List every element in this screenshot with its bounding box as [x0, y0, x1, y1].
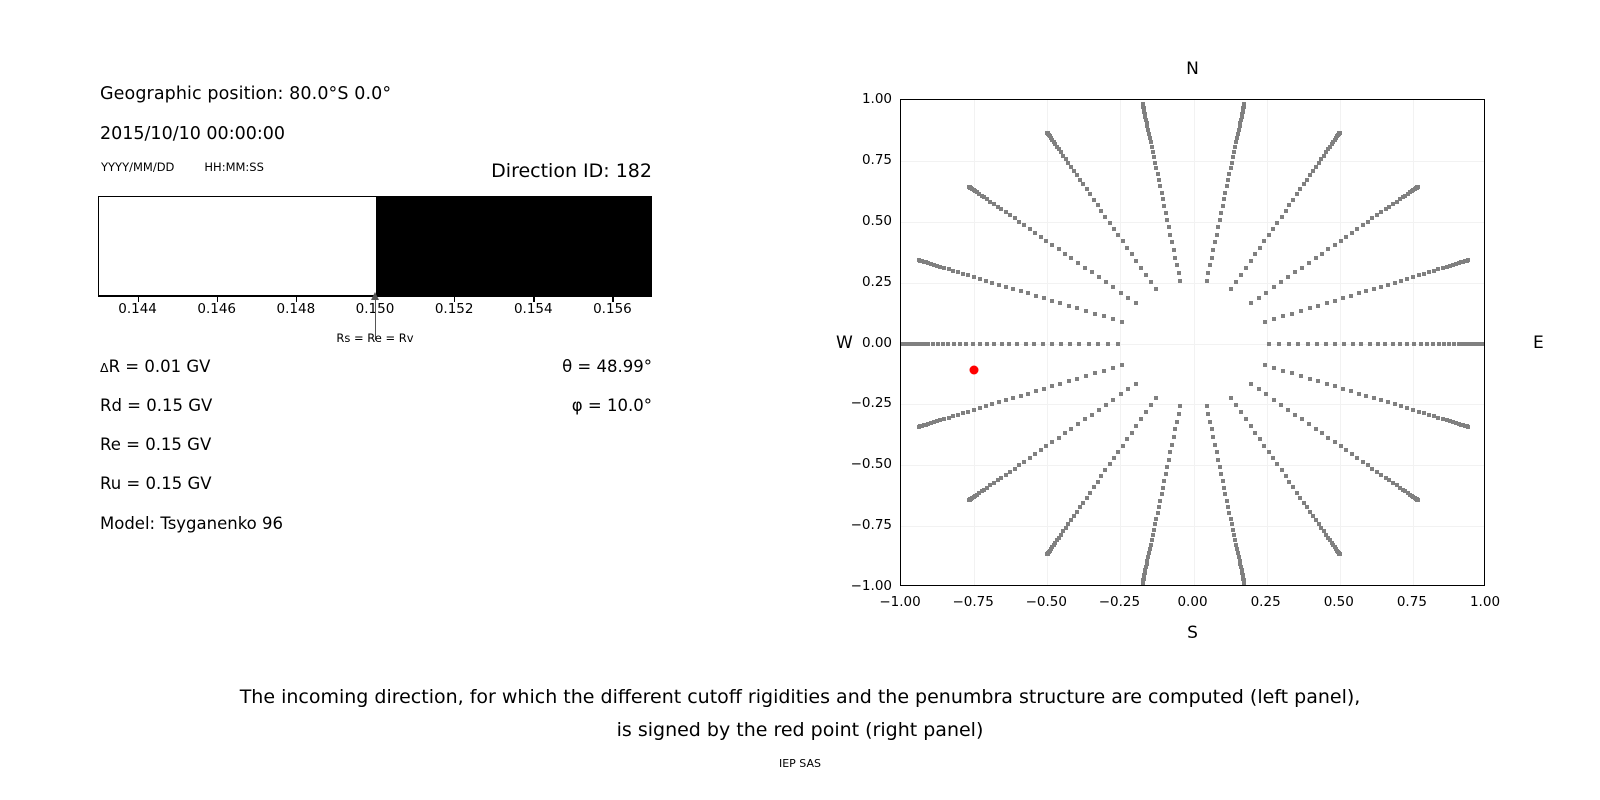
direction-point — [1281, 314, 1285, 318]
direction-point — [1361, 223, 1365, 227]
direction-point — [1417, 273, 1421, 277]
parameter-text: Ru = 0.15 GV — [100, 474, 212, 493]
direction-point — [1205, 404, 1209, 408]
direction-point — [918, 342, 922, 346]
direction-point — [1120, 320, 1124, 324]
direction-point — [1271, 456, 1275, 460]
direction-point — [1233, 145, 1237, 149]
direction-point — [1379, 398, 1383, 402]
direction-point — [1442, 342, 1446, 346]
direction-point — [1026, 291, 1030, 295]
direction-point — [1134, 259, 1138, 263]
direction-point — [1092, 485, 1096, 489]
direction-point — [1237, 128, 1241, 132]
gridline-vertical — [1047, 100, 1048, 585]
direction-point — [1279, 403, 1283, 407]
direction-point — [1333, 243, 1337, 247]
direction-point — [1116, 342, 1120, 346]
direction-point — [1242, 581, 1246, 585]
direction-point — [1272, 285, 1276, 289]
direction-point — [942, 417, 946, 421]
direction-point — [1299, 374, 1303, 378]
direction-point — [1013, 467, 1017, 471]
direction-point — [1235, 136, 1239, 140]
direction-point — [1302, 182, 1306, 186]
direction-point — [1213, 443, 1217, 447]
direction-point — [1267, 450, 1271, 454]
direction-point — [1320, 252, 1324, 256]
x-axis-tick — [1413, 585, 1414, 586]
direction-point — [1144, 410, 1148, 414]
direction-point — [1083, 417, 1087, 421]
direction-point — [1008, 470, 1012, 474]
direction-point — [972, 275, 976, 279]
penumbra-tick-label: 0.152 — [435, 301, 474, 317]
direction-point — [1383, 342, 1387, 346]
direction-point — [1287, 480, 1291, 484]
direction-point — [1314, 427, 1318, 431]
direction-point — [1364, 394, 1368, 398]
direction-point — [1160, 191, 1164, 195]
direction-point — [1026, 392, 1030, 396]
penumbra-tick-label: 0.154 — [514, 301, 553, 317]
direction-point — [947, 267, 951, 271]
direction-point — [1044, 239, 1048, 243]
direction-point — [1253, 252, 1257, 256]
direction-point — [1277, 342, 1281, 346]
direction-point — [938, 418, 942, 422]
direction-point — [1167, 225, 1171, 229]
direction-point — [956, 270, 960, 274]
direction-point — [1272, 317, 1276, 321]
direction-point — [1239, 410, 1243, 414]
direction-point — [1077, 342, 1081, 346]
direction-scatter-plot — [900, 99, 1485, 586]
direction-point — [1178, 279, 1182, 283]
direction-point — [978, 277, 982, 281]
direction-point — [1218, 218, 1222, 222]
direction-point — [1223, 492, 1227, 496]
caption-line-2: is signed by the red point (right panel) — [0, 719, 1600, 741]
direction-point — [1326, 247, 1330, 251]
direction-point — [1236, 132, 1240, 136]
direction-point — [1045, 131, 1049, 135]
direction-point — [990, 281, 994, 285]
direction-point — [1349, 294, 1353, 298]
direction-point — [1208, 263, 1212, 267]
penumbra-forbidden-region — [376, 197, 652, 295]
direction-point — [1229, 517, 1233, 521]
direction-point — [1149, 403, 1153, 407]
penumbra-tick-label: 0.156 — [593, 301, 632, 317]
gridline-horizontal — [901, 222, 1484, 223]
direction-point — [1116, 450, 1120, 454]
direction-point — [1219, 472, 1223, 476]
direction-point — [1339, 239, 1343, 243]
direction-point — [1357, 392, 1361, 396]
direction-point — [931, 342, 935, 346]
direction-point — [1069, 256, 1073, 260]
y-axis-tick-label: 1.00 — [840, 91, 892, 107]
x-axis-tick — [1340, 585, 1341, 586]
datetime-format-hint: YYYY/MM/DDHH:MM:SS — [101, 160, 264, 174]
direction-point — [1149, 543, 1153, 547]
direction-point — [1058, 382, 1062, 386]
direction-point — [1333, 299, 1337, 303]
direction-point — [1152, 528, 1156, 532]
direction-point — [992, 481, 996, 485]
direction-point — [1158, 499, 1162, 503]
direction-point — [1399, 279, 1403, 283]
x-axis-tick-label: −1.00 — [879, 594, 920, 610]
direction-point — [1432, 414, 1436, 418]
parameter-row: Re = 0.15 GV — [100, 435, 211, 454]
direction-point — [999, 207, 1003, 211]
gridline-vertical — [1194, 100, 1195, 585]
y-axis-tick — [900, 526, 901, 527]
direction-point — [967, 498, 971, 502]
direction-point — [1092, 198, 1096, 202]
direction-point — [1349, 389, 1353, 393]
direction-point — [1210, 427, 1214, 431]
direction-point — [1341, 387, 1345, 391]
direction-point — [1004, 473, 1008, 477]
direction-point — [1291, 485, 1295, 489]
direction-point — [1366, 463, 1370, 467]
direction-point — [1284, 209, 1288, 213]
direction-point — [985, 342, 989, 346]
direction-point — [1281, 369, 1285, 373]
direction-point — [1177, 412, 1181, 416]
direction-point — [1126, 296, 1130, 300]
direction-point — [1226, 178, 1230, 182]
direction-point — [1218, 465, 1222, 469]
direction-point — [990, 402, 994, 406]
direction-point — [946, 342, 950, 346]
direction-point — [1372, 396, 1376, 400]
direction-point — [1177, 271, 1181, 275]
direction-point — [1391, 342, 1395, 346]
direction-point — [1147, 132, 1151, 136]
gridline-vertical — [1120, 100, 1121, 585]
direction-point — [1149, 280, 1153, 284]
direction-point — [1093, 371, 1097, 375]
direction-point — [1422, 272, 1426, 276]
x-axis-tick — [1194, 585, 1195, 586]
direction-point — [1007, 342, 1011, 346]
direction-point — [971, 342, 975, 346]
direction-point — [1333, 384, 1337, 388]
direction-point — [1028, 227, 1032, 231]
direction-point — [1103, 215, 1107, 219]
direction-point — [1119, 291, 1123, 295]
direction-point — [1302, 501, 1306, 505]
direction-point — [1405, 277, 1409, 281]
direction-point — [942, 266, 946, 270]
direction-point — [941, 342, 945, 346]
direction-point — [1173, 427, 1177, 431]
gridline-horizontal — [901, 283, 1484, 284]
direction-point — [1050, 243, 1054, 247]
direction-point — [1104, 403, 1108, 407]
direction-point — [1307, 422, 1311, 426]
direction-point — [1075, 306, 1079, 310]
direction-point — [999, 476, 1003, 480]
parameter-text: Model: Tsyganenko 96 — [100, 514, 283, 533]
direction-point — [996, 478, 1000, 482]
direction-point — [972, 408, 976, 412]
angle-row: θ = 48.99° — [412, 357, 652, 376]
direction-point — [1157, 178, 1161, 182]
direction-point — [1172, 435, 1176, 439]
direction-point — [1015, 342, 1019, 346]
direction-point — [1262, 239, 1266, 243]
direction-point — [1338, 552, 1342, 556]
direction-point — [1039, 448, 1043, 452]
direction-point — [1175, 263, 1179, 267]
direction-point — [1267, 342, 1271, 346]
direction-point — [1139, 266, 1143, 270]
direction-point — [1314, 165, 1318, 169]
direction-id-label: Direction ID: 182 — [252, 160, 652, 182]
rs-re-rv-annotation-label: Rs = Re = Rv — [336, 331, 413, 345]
direction-point — [1238, 124, 1242, 128]
direction-point — [1164, 211, 1168, 215]
direction-point — [1004, 285, 1008, 289]
direction-point — [1172, 248, 1176, 252]
direction-point — [1104, 280, 1108, 284]
direction-point — [1232, 150, 1236, 154]
direction-point — [1324, 342, 1328, 346]
direction-point — [1102, 369, 1106, 373]
direction-point — [917, 258, 921, 262]
direction-point — [1019, 289, 1023, 293]
direction-point — [1211, 248, 1215, 252]
parameter-row: Ru = 0.15 GV — [100, 474, 212, 493]
direction-point — [1057, 247, 1061, 251]
direction-point — [1229, 166, 1233, 170]
direction-point — [1230, 161, 1234, 165]
direction-point — [1057, 436, 1061, 440]
direction-point — [1141, 102, 1145, 106]
direction-point — [1271, 227, 1275, 231]
direction-point — [1263, 363, 1267, 367]
direction-point — [1022, 460, 1026, 464]
direction-point — [1284, 474, 1288, 478]
direction-point — [1484, 342, 1485, 346]
direction-point — [1308, 306, 1312, 310]
direction-point — [1225, 499, 1229, 503]
direction-point — [1234, 140, 1238, 144]
direction-point — [1233, 538, 1237, 542]
direction-point — [1045, 552, 1049, 556]
direction-point — [1004, 398, 1008, 402]
direction-point — [1368, 342, 1372, 346]
direction-point — [1416, 185, 1420, 189]
direction-point — [1222, 197, 1226, 201]
direction-point — [947, 416, 951, 420]
direction-point — [1208, 420, 1212, 424]
direction-point — [956, 413, 960, 417]
direction-point — [1121, 239, 1125, 243]
direction-point — [1316, 304, 1320, 308]
direction-point — [1405, 342, 1409, 346]
direction-point — [1300, 417, 1304, 421]
direction-point — [1154, 396, 1158, 400]
direction-point — [1293, 413, 1297, 417]
direction-point — [1119, 392, 1123, 396]
direction-point — [1017, 463, 1021, 467]
direction-point — [951, 269, 955, 273]
direction-point — [1222, 486, 1226, 490]
direction-point — [966, 273, 970, 277]
direction-point — [992, 342, 996, 346]
parameter-text: R = 0.01 GV — [109, 357, 211, 376]
direction-point — [1219, 211, 1223, 215]
direction-point — [1011, 396, 1015, 400]
direction-point — [1156, 172, 1160, 176]
direction-point — [1083, 266, 1087, 270]
direction-point — [1112, 456, 1116, 460]
direction-point — [1333, 342, 1337, 346]
direction-point — [1466, 425, 1470, 429]
direction-point — [1257, 296, 1261, 300]
direction-point — [1160, 492, 1164, 496]
left-panel: Geographic position: 80.0°S 0.0° 2015/10… — [0, 0, 700, 620]
direction-point — [1372, 287, 1376, 291]
direction-point — [1088, 192, 1092, 196]
direction-point — [1093, 312, 1097, 316]
direction-point — [1412, 342, 1416, 346]
direction-point — [1050, 342, 1054, 346]
direction-point — [1417, 410, 1421, 414]
direction-point — [1295, 192, 1299, 196]
direction-point — [1078, 178, 1082, 182]
direction-point — [1299, 309, 1303, 313]
direction-point — [1042, 387, 1046, 391]
direction-point — [1344, 235, 1348, 239]
direction-point — [1325, 382, 1329, 386]
direction-point — [1210, 256, 1214, 260]
direction-point — [1405, 406, 1409, 410]
direction-point — [1178, 404, 1182, 408]
direction-point — [1370, 216, 1374, 220]
direction-point — [1154, 287, 1158, 291]
direction-point — [1042, 296, 1046, 300]
caption-line-1: The incoming direction, for which the di… — [0, 686, 1600, 708]
direction-point — [1315, 342, 1319, 346]
direction-point — [1314, 256, 1318, 260]
direction-point — [1130, 252, 1134, 256]
direction-point — [1264, 291, 1268, 295]
x-axis-tick — [901, 585, 902, 586]
direction-point — [1112, 227, 1116, 231]
compass-west-label: W — [836, 333, 853, 353]
direction-point — [1386, 283, 1390, 287]
direction-point — [1097, 408, 1101, 412]
penumbra-allowed-region — [99, 197, 376, 295]
direction-point — [1108, 462, 1112, 466]
direction-point — [1150, 538, 1154, 542]
direction-point — [1126, 387, 1130, 391]
direction-point — [1350, 452, 1354, 456]
y-axis-tick-label: 0.75 — [840, 152, 892, 168]
direction-point — [1447, 342, 1451, 346]
direction-point — [1151, 150, 1155, 154]
direction-point — [1125, 246, 1129, 250]
direction-point — [1050, 384, 1054, 388]
direction-point — [1063, 431, 1067, 435]
direction-point — [1393, 281, 1397, 285]
direction-point — [1215, 233, 1219, 237]
y-axis-tick-label: −1.00 — [840, 578, 892, 594]
direction-point — [1225, 184, 1229, 188]
direction-point — [1249, 259, 1253, 263]
direction-point — [1096, 203, 1100, 207]
x-axis-tick — [974, 585, 975, 586]
direction-point — [1257, 387, 1261, 391]
direction-point — [1290, 371, 1294, 375]
direction-point — [1258, 246, 1262, 250]
direction-point — [1164, 472, 1168, 476]
direction-point — [951, 414, 955, 418]
direction-point — [1154, 166, 1158, 170]
direction-point — [1008, 213, 1012, 217]
direction-point — [1097, 275, 1101, 279]
direction-point — [1162, 479, 1166, 483]
direction-point — [1096, 480, 1100, 484]
y-axis-tick-label: −0.25 — [840, 395, 892, 411]
direction-point — [1144, 273, 1148, 277]
direction-point — [1205, 279, 1209, 283]
direction-point — [1022, 223, 1026, 227]
direction-point — [1068, 342, 1072, 346]
x-axis-tick — [1267, 585, 1268, 586]
direction-point — [1333, 440, 1337, 444]
direction-point — [1244, 266, 1248, 270]
y-axis-tick — [900, 100, 901, 101]
direction-point — [966, 410, 970, 414]
penumbra-tick-label: 0.144 — [118, 301, 157, 317]
datetime-label: 2015/10/10 00:00:00 — [100, 124, 285, 144]
direction-point — [1364, 289, 1368, 293]
direction-point — [1146, 128, 1150, 132]
direction-point — [1287, 203, 1291, 207]
direction-point — [1239, 273, 1243, 277]
direction-point — [1216, 458, 1220, 462]
direction-point — [1355, 456, 1359, 460]
direction-point — [1411, 275, 1415, 279]
direction-point — [1232, 533, 1236, 537]
direction-point — [1231, 155, 1235, 159]
direction-point — [1379, 285, 1383, 289]
direction-point — [1350, 231, 1354, 235]
direction-point — [1153, 522, 1157, 526]
direction-point — [1152, 155, 1156, 159]
direction-point — [1211, 435, 1215, 439]
direction-point — [1078, 505, 1082, 509]
direction-point — [1370, 467, 1374, 471]
direction-point — [958, 342, 962, 346]
direction-point — [1087, 342, 1091, 346]
direction-point — [1357, 291, 1361, 295]
x-axis-tick-label: 0.75 — [1397, 594, 1427, 610]
direction-point — [1044, 444, 1048, 448]
direction-point — [984, 404, 988, 408]
direction-point — [1325, 301, 1329, 305]
direction-point — [1075, 173, 1079, 177]
direction-point — [1033, 452, 1037, 456]
